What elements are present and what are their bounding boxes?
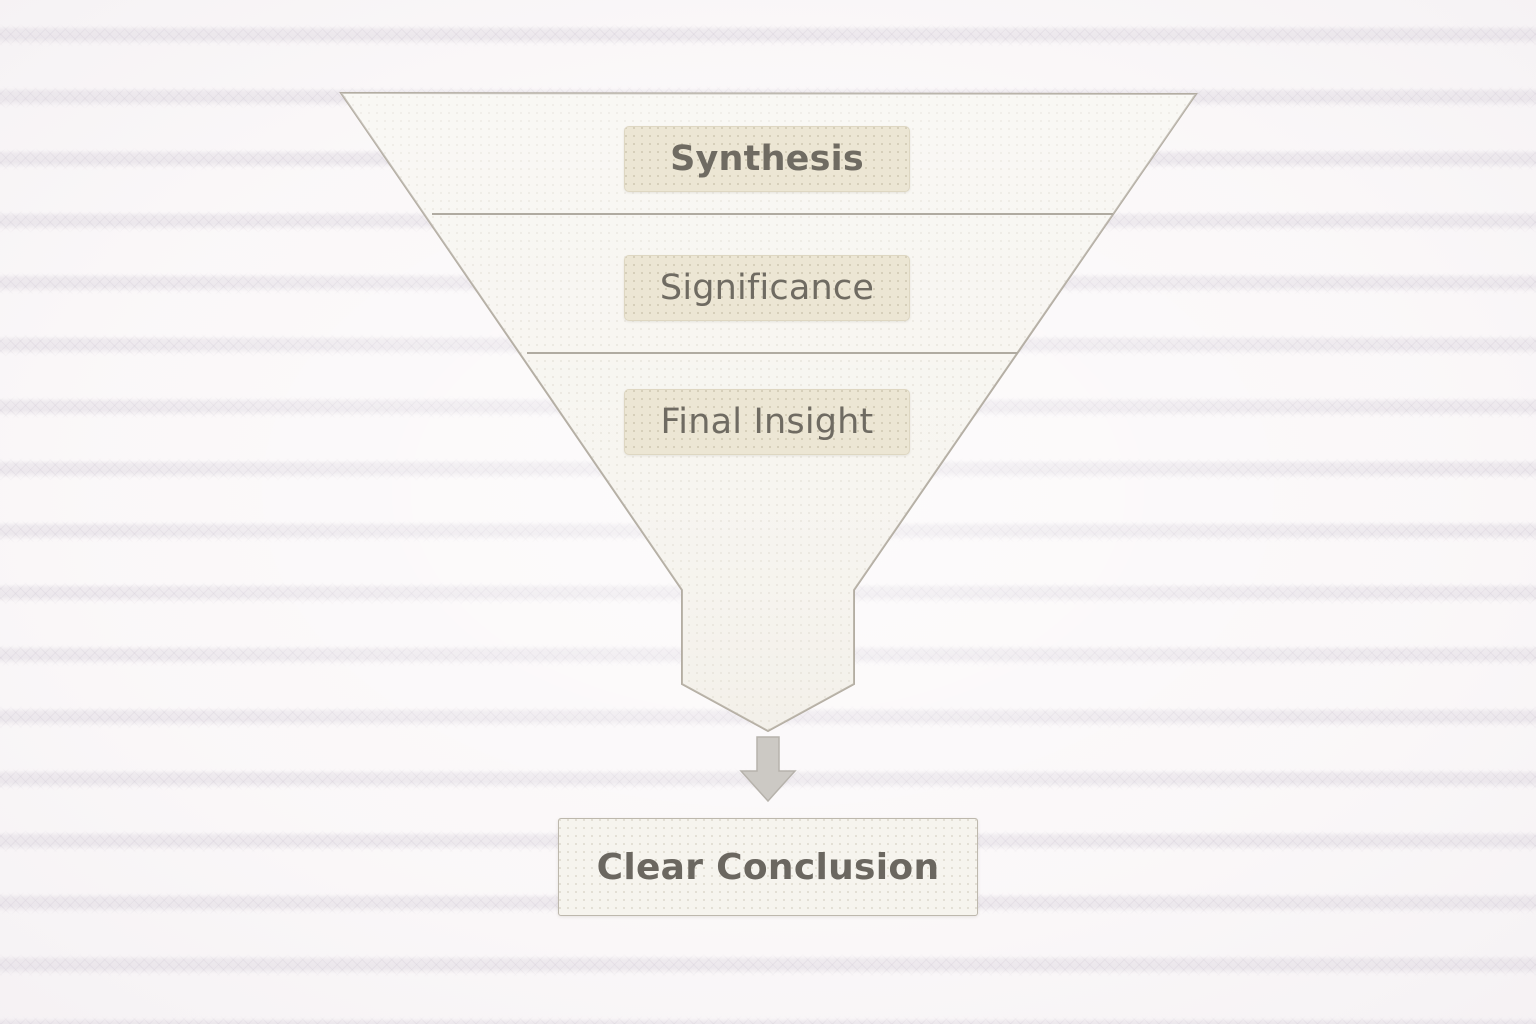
funnel-stage-label-final-insight[interactable]: Final Insight [624, 389, 910, 455]
outcome-label-text: Clear Conclusion [597, 847, 940, 888]
stage-label-text: Significance [660, 268, 874, 308]
outcome-box-clear-conclusion[interactable]: Clear Conclusion [558, 818, 978, 916]
stage-label-text: Final Insight [661, 402, 874, 442]
down-arrow-icon [741, 737, 795, 801]
diagram-canvas: Synthesis Significance Final Insight Cle… [0, 0, 1536, 1024]
funnel-stage-label-synthesis[interactable]: Synthesis [624, 126, 910, 192]
stage-label-text: Synthesis [670, 139, 864, 179]
funnel-stage-label-significance[interactable]: Significance [624, 255, 910, 321]
